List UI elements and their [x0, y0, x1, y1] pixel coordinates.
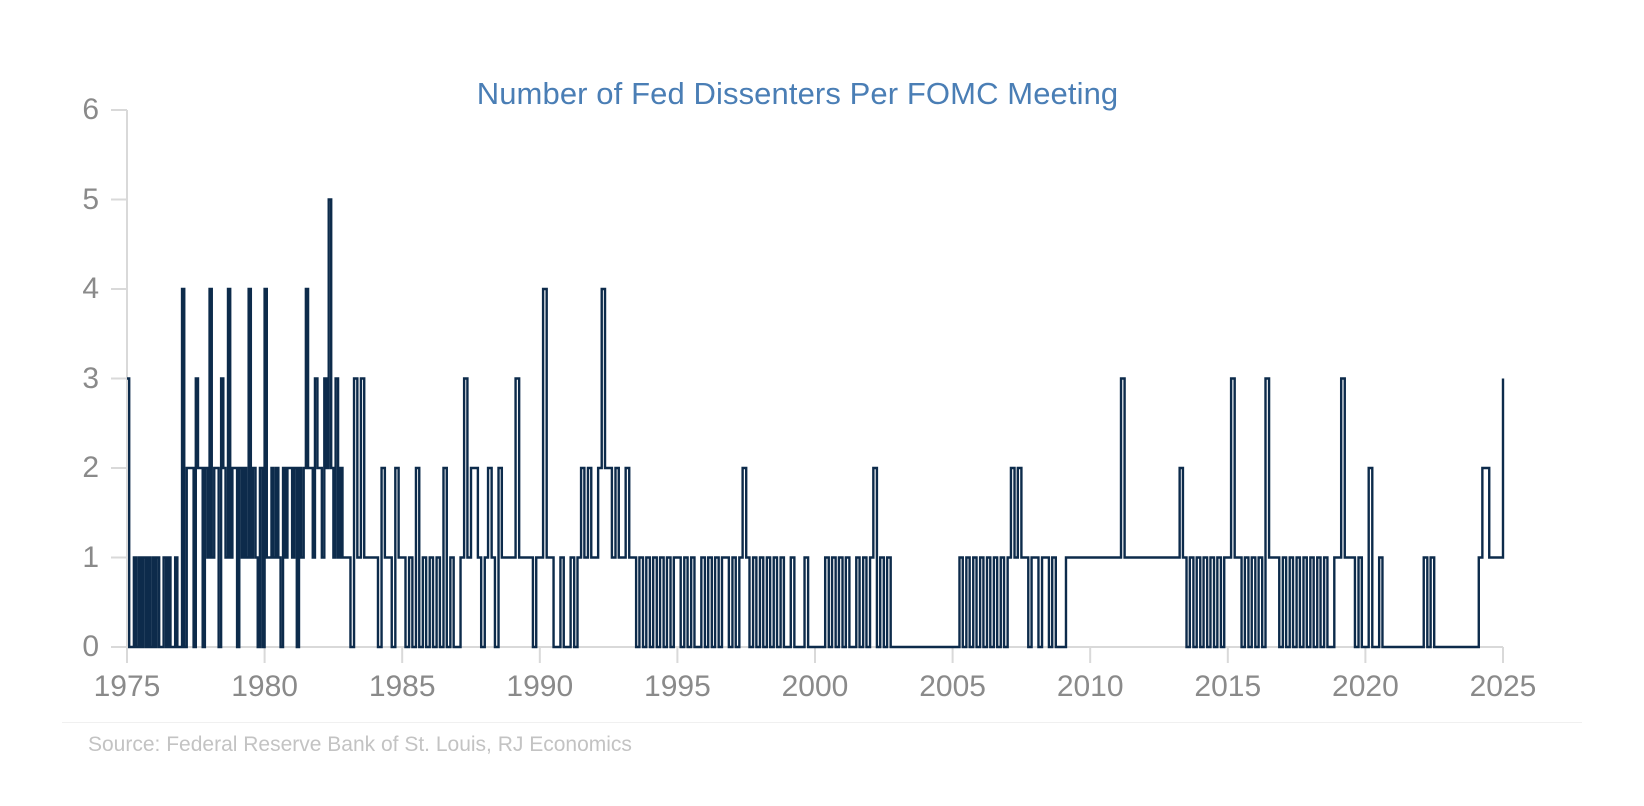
x-axis-tick-label: 1995	[617, 672, 737, 702]
x-axis-tick-label: 2025	[1443, 672, 1563, 702]
x-axis-tick-label: 2005	[893, 672, 1013, 702]
y-axis-tick-label: 4	[55, 274, 99, 304]
x-axis-tick-label: 2020	[1305, 672, 1425, 702]
y-axis-tick-label: 2	[55, 453, 99, 483]
y-axis-tick-label: 0	[55, 632, 99, 662]
x-axis-tick-label: 1975	[67, 672, 187, 702]
x-axis-tick-label: 1980	[205, 672, 325, 702]
x-axis-tick-label: 2015	[1168, 672, 1288, 702]
footer-divider	[62, 722, 1582, 723]
y-axis-tick-label: 6	[55, 95, 99, 125]
x-axis-tick-label: 2000	[755, 672, 875, 702]
data-series-group	[127, 200, 1503, 648]
x-axis-tick-label: 1985	[342, 672, 462, 702]
y-axis-tick-label: 5	[55, 185, 99, 215]
data-line	[127, 200, 1503, 648]
y-axis-tick-label: 1	[55, 543, 99, 573]
source-note: Source: Federal Reserve Bank of St. Loui…	[88, 733, 632, 757]
x-axis-tick-label: 2010	[1030, 672, 1150, 702]
chart-figure: Number of Fed Dissenters Per FOMC Meetin…	[0, 0, 1644, 806]
y-axis-tick-label: 3	[55, 364, 99, 394]
x-axis-tick-label: 1990	[480, 672, 600, 702]
